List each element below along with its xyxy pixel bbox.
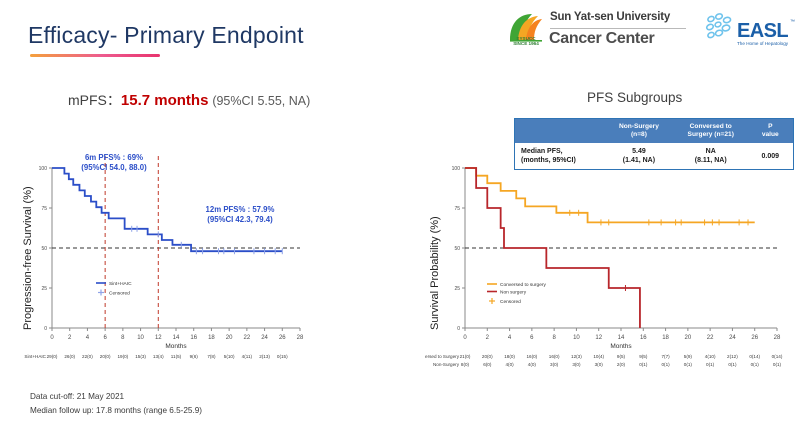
non-surgery-median: 5.49 bbox=[632, 148, 646, 155]
y-tick-label: 100 bbox=[39, 166, 48, 172]
risk-value: 0(14) bbox=[749, 354, 760, 359]
risk-value: 4(0) bbox=[528, 362, 537, 367]
risk-value: 5(9) bbox=[684, 354, 693, 359]
easl-cells-icon bbox=[704, 12, 738, 46]
x-tick-label: 16 bbox=[640, 335, 647, 341]
mpfs-headline: mPFS：15.7 months (95%CI 5.55, NA) bbox=[68, 90, 310, 110]
slide: Efficacy- Primary Endpoint SYSUCC SINCE … bbox=[0, 0, 799, 434]
risk-value: 10(4) bbox=[593, 354, 604, 359]
legend-label: Sint+HAIC bbox=[109, 281, 132, 287]
header-cell-non-surgery: Non-Surgery (n=8) bbox=[604, 119, 674, 143]
header-non-surgery-line2: (n=8) bbox=[631, 131, 647, 138]
km-plot-left: 02550751000246810121416182022242628Month… bbox=[18, 150, 318, 380]
x-tick-label: 26 bbox=[751, 335, 758, 341]
table-header-row: Non-Surgery (n=8) Conversed to Surgery (… bbox=[515, 119, 793, 143]
risk-value: 21(0) bbox=[460, 354, 471, 359]
x-tick-label: 14 bbox=[173, 335, 180, 341]
x-axis-title: Months bbox=[610, 343, 632, 350]
header-cell-pvalue: P value bbox=[748, 119, 793, 143]
y-tick-label: 100 bbox=[452, 166, 461, 172]
risk-value: 20(0) bbox=[100, 354, 111, 359]
risk-value: 26(0) bbox=[64, 354, 75, 359]
risk-row-label: Non-Surgery bbox=[433, 362, 460, 367]
risk-value: 22(0) bbox=[82, 354, 93, 359]
header-pvalue-line2: value bbox=[762, 131, 779, 138]
easl-logo: EASL ™ The Home of Hepatology bbox=[704, 10, 796, 52]
conversed-ci: (8.11, NA) bbox=[695, 157, 727, 164]
y-axis-title-left: Progression-free Survival (%) bbox=[22, 186, 34, 330]
y-tick-label: 0 bbox=[457, 326, 460, 332]
x-tick-label: 12 bbox=[155, 335, 162, 341]
risk-value: 16(0) bbox=[549, 354, 560, 359]
legend-label: Censored bbox=[109, 291, 130, 297]
km-step-line bbox=[465, 168, 755, 222]
annotation-line1: 6m PFS% : 69% bbox=[85, 153, 143, 162]
risk-value: 3(0) bbox=[550, 362, 559, 367]
mpfs-value: 15.7 months bbox=[121, 92, 209, 109]
footer-notes: Data cut-off: 21 May 2021 Median follow … bbox=[30, 390, 202, 418]
pvalue-text: 0.009 bbox=[762, 152, 780, 161]
x-tick-label: 14 bbox=[618, 335, 625, 341]
x-tick-label: 12 bbox=[595, 335, 602, 341]
risk-value: 13(4) bbox=[153, 354, 164, 359]
header-conversed-line1: Conversed to bbox=[690, 123, 732, 130]
sysucc-university-text: Sun Yat-sen University bbox=[550, 11, 670, 23]
risk-value: 7(7) bbox=[661, 354, 670, 359]
x-tick-label: 6 bbox=[530, 335, 534, 341]
sysucc-badge-line2: SINCE 1964 bbox=[513, 41, 539, 46]
row-label-line2: (months, 95%CI) bbox=[521, 157, 576, 164]
annotation-line1: 12m PFS% : 57.9% bbox=[206, 205, 275, 214]
risk-value: 3(0) bbox=[595, 362, 604, 367]
risk-value: 15(3) bbox=[135, 354, 146, 359]
sysucc-center-text: Cancer Center bbox=[549, 30, 654, 48]
easl-trademark: ™ bbox=[790, 19, 795, 25]
sysucc-logo: SYSUCC SINCE 1964 Sun Yat-sen University… bbox=[506, 8, 688, 52]
x-tick-label: 2 bbox=[486, 335, 490, 341]
y-tick-label: 75 bbox=[454, 206, 460, 212]
risk-value: 9(5) bbox=[639, 354, 648, 359]
risk-value: 18(0) bbox=[504, 354, 515, 359]
conversed-median: NA bbox=[706, 148, 716, 155]
risk-value: 0(1) bbox=[684, 362, 693, 367]
subgroup-heading: PFS Subgroups bbox=[587, 90, 682, 105]
header-non-surgery-line1: Non-Surgery bbox=[619, 123, 659, 130]
y-tick-label: 50 bbox=[454, 246, 460, 252]
risk-value: 5(10) bbox=[224, 354, 235, 359]
x-tick-label: 20 bbox=[226, 335, 233, 341]
risk-value: 2(12) bbox=[727, 354, 738, 359]
x-tick-label: 0 bbox=[463, 335, 467, 341]
legend-label: Censored bbox=[500, 299, 521, 305]
sysucc-divider bbox=[550, 28, 686, 29]
sysucc-badge-line1: SYSUCC bbox=[516, 36, 535, 41]
risk-value: 19(0) bbox=[117, 354, 128, 359]
risk-value: 4(0) bbox=[505, 362, 514, 367]
risk-value: 0(1) bbox=[639, 362, 648, 367]
legend-label: Conversed to surgery bbox=[500, 282, 546, 288]
x-tick-label: 20 bbox=[685, 335, 692, 341]
risk-value: 2(13) bbox=[259, 354, 270, 359]
y-tick-label: 25 bbox=[41, 286, 47, 292]
risk-value: 0(1) bbox=[706, 362, 715, 367]
title-underline-rule bbox=[30, 54, 160, 57]
x-tick-label: 10 bbox=[573, 335, 580, 341]
risk-value: 8(0) bbox=[461, 362, 470, 367]
x-tick-label: 28 bbox=[774, 335, 781, 341]
risk-value: 12(3) bbox=[571, 354, 582, 359]
risk-value: 0(14) bbox=[772, 354, 783, 359]
x-tick-label: 8 bbox=[121, 335, 125, 341]
cell-non-surgery-value: 5.49 (1.41, NA) bbox=[604, 143, 674, 169]
risk-value: 0(1) bbox=[661, 362, 670, 367]
y-tick-label: 0 bbox=[44, 326, 47, 332]
risk-value: 6(0) bbox=[483, 362, 492, 367]
footer-median-followup: Median follow up: 17.8 months (range 6.5… bbox=[30, 404, 202, 418]
easl-tagline: The Home of Hepatology bbox=[737, 41, 788, 46]
x-tick-label: 10 bbox=[137, 335, 144, 341]
x-tick-label: 6 bbox=[103, 335, 107, 341]
risk-value: 0(1) bbox=[751, 362, 760, 367]
risk-value: 4(10) bbox=[705, 354, 716, 359]
risk-value: 11(5) bbox=[171, 354, 182, 359]
y-axis-title-right: Survival Probability (%) bbox=[429, 216, 441, 330]
x-tick-label: 2 bbox=[68, 335, 72, 341]
cell-conversed-value: NA (8.11, NA) bbox=[674, 143, 748, 169]
y-tick-label: 25 bbox=[454, 286, 460, 292]
x-tick-label: 18 bbox=[662, 335, 669, 341]
x-tick-label: 8 bbox=[552, 335, 556, 341]
x-tick-label: 28 bbox=[297, 335, 304, 341]
easl-wordmark: EASL bbox=[737, 20, 788, 43]
risk-value: 2(0) bbox=[617, 362, 626, 367]
risk-value: 0(15) bbox=[277, 354, 288, 359]
km-curve-overall: Progression-free Survival (%) 0255075100… bbox=[18, 150, 318, 380]
annotation-line2: (95%CI 42.3, 79.4) bbox=[207, 215, 273, 224]
risk-value: 0(1) bbox=[728, 362, 737, 367]
risk-value: 9(5) bbox=[617, 354, 626, 359]
risk-row-label: Conversed to Surgery bbox=[425, 354, 460, 359]
header-conversed-line2: Surgery (n=21) bbox=[688, 131, 734, 138]
page-title: Efficacy- Primary Endpoint bbox=[28, 22, 304, 49]
footer-data-cutoff: Data cut-off: 21 May 2021 bbox=[30, 390, 202, 404]
km-curve-subgroups: Survival Probability (%) 025507510002468… bbox=[425, 150, 795, 380]
x-tick-label: 16 bbox=[190, 335, 197, 341]
mpfs-confidence-interval: (95%CI 5.55, NA) bbox=[212, 94, 310, 108]
row-label-line1: Median PFS, bbox=[521, 148, 563, 155]
annotation-line2: (95%CI 54.0, 88.0) bbox=[81, 163, 147, 172]
x-tick-label: 18 bbox=[208, 335, 215, 341]
risk-value: 4(11) bbox=[242, 354, 253, 359]
x-tick-label: 24 bbox=[729, 335, 736, 341]
sysucc-badge: SYSUCC SINCE 1964 bbox=[507, 36, 545, 47]
non-surgery-ci: (1.41, NA) bbox=[623, 157, 655, 164]
cell-pvalue: 0.009 bbox=[748, 143, 793, 169]
y-tick-label: 75 bbox=[41, 206, 47, 212]
subgroup-summary-table: Non-Surgery (n=8) Conversed to Surgery (… bbox=[514, 118, 794, 170]
row-label-median-pfs: Median PFS, (months, 95%CI) bbox=[515, 143, 604, 169]
x-tick-label: 22 bbox=[244, 335, 251, 341]
x-tick-label: 24 bbox=[261, 335, 268, 341]
legend-label: Non surgery bbox=[500, 290, 527, 296]
y-tick-label: 50 bbox=[41, 246, 47, 252]
header-cell-blank bbox=[515, 119, 604, 143]
risk-value: 3(0) bbox=[572, 362, 581, 367]
risk-value: 29(0) bbox=[47, 354, 58, 359]
x-tick-label: 22 bbox=[707, 335, 714, 341]
risk-value: 0(1) bbox=[773, 362, 782, 367]
risk-value: 16(0) bbox=[526, 354, 537, 359]
header-cell-conversed: Conversed to Surgery (n=21) bbox=[674, 119, 748, 143]
table-row: Median PFS, (months, 95%CI) 5.49 (1.41, … bbox=[515, 143, 793, 169]
x-axis-title: Months bbox=[165, 343, 187, 350]
x-tick-label: 0 bbox=[50, 335, 54, 341]
header-pvalue-line1: P bbox=[768, 123, 772, 130]
risk-value: 7(8) bbox=[207, 354, 216, 359]
x-tick-label: 4 bbox=[86, 335, 90, 341]
risk-value: 9(6) bbox=[190, 354, 199, 359]
x-tick-label: 4 bbox=[508, 335, 512, 341]
x-tick-label: 26 bbox=[279, 335, 286, 341]
risk-value: 20(0) bbox=[482, 354, 493, 359]
risk-row-label: Sint+HAIC bbox=[24, 354, 46, 359]
mpfs-label: mPFS： bbox=[68, 92, 121, 108]
km-plot-right: 02550751000246810121416182022242628Month… bbox=[425, 150, 795, 380]
